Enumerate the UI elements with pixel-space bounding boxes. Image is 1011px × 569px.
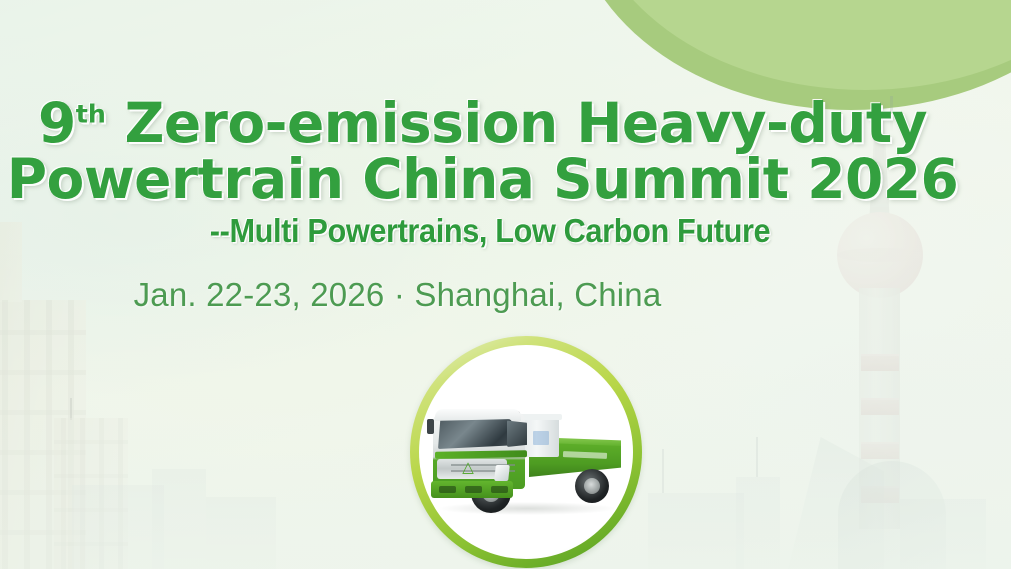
truck-bumper-vent	[465, 486, 482, 493]
title-line-one: 9th Zero-emission Heavy-duty	[0, 95, 965, 151]
subtitle: --Multi Powertrains, Low Carbon Future	[34, 212, 945, 250]
title-line-one-rest: Zero-emission Heavy-duty	[106, 91, 927, 155]
medallion-face: △	[419, 345, 633, 559]
truck-ground-shadow	[439, 502, 615, 515]
page-title: 9th Zero-emission Heavy-duty Powertrain …	[0, 95, 965, 207]
truck-brand-emblem: △	[459, 460, 477, 474]
conference-banner: 9th Zero-emission Heavy-duty Powertrain …	[0, 0, 1011, 569]
truck-battery-box-label	[533, 431, 549, 445]
title-line-two: Powertrain China Summit 2026	[0, 151, 965, 207]
truck-windshield	[438, 419, 512, 449]
truck-medallion: △	[410, 336, 642, 568]
truck-side-window	[507, 420, 527, 447]
electric-dump-truck-image: △	[425, 389, 629, 521]
truck-rear-hub	[584, 478, 600, 494]
truck-bumper-foglight	[491, 486, 508, 493]
truck-headlight	[494, 465, 510, 481]
edition-number: 9	[38, 91, 76, 155]
event-date-location: Jan. 22-23, 2026 · Shanghai, China	[0, 276, 795, 314]
truck-bumper-vent	[439, 486, 456, 493]
edition-ordinal-suffix: th	[76, 100, 106, 129]
truck-side-mirror	[427, 419, 434, 434]
